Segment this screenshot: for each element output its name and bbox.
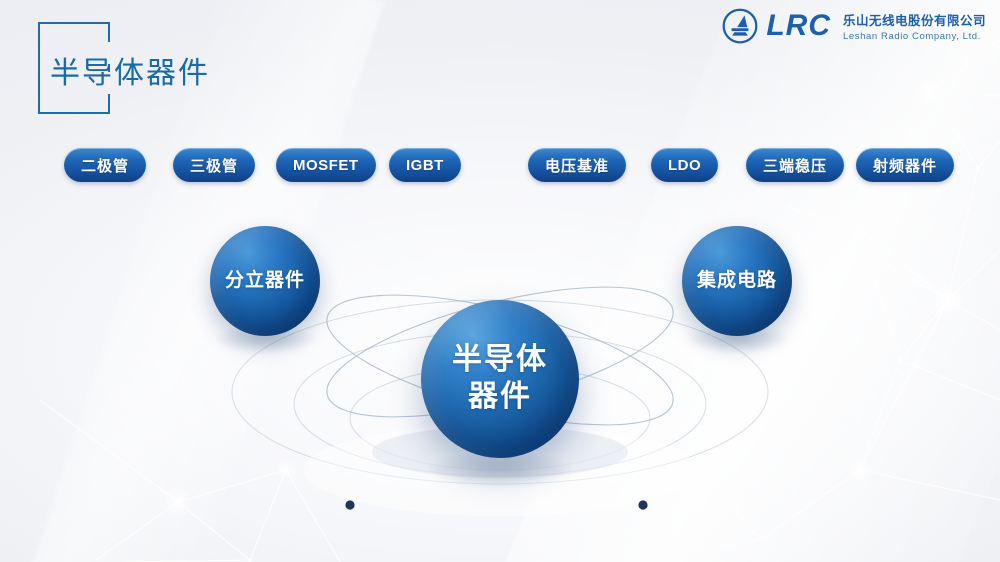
pill-transistor[interactable]: 三极管 bbox=[173, 148, 255, 182]
logo-company-name-en: Leshan Radio Company, Ltd. bbox=[843, 31, 986, 42]
pill-rf-device[interactable]: 射频器件 bbox=[856, 148, 954, 182]
pill-three-terminal-regulator[interactable]: 三端稳压 bbox=[746, 148, 844, 182]
pill-ldo[interactable]: LDO bbox=[651, 148, 718, 182]
pill-diode[interactable]: 二极管 bbox=[64, 148, 146, 182]
logo-abbreviation: LRC bbox=[766, 11, 831, 41]
lrc-anvil-logo-icon bbox=[722, 8, 758, 44]
orbit-marker-dots bbox=[345, 500, 647, 509]
slide-canvas: 半导体器件 LRC 乐山无线电股份有限公司 Leshan Radio Compa… bbox=[0, 0, 1000, 562]
company-logo: LRC 乐山无线电股份有限公司 Leshan Radio Company, Lt… bbox=[722, 8, 986, 44]
node-discrete[interactable]: 分立器件 bbox=[210, 226, 320, 336]
title-text: 半导体器件 bbox=[50, 48, 210, 92]
center-node-line-1: 半导体 bbox=[452, 342, 548, 379]
logo-company-name-cn: 乐山无线电股份有限公司 bbox=[843, 10, 986, 29]
node-integrated-circuit[interactable]: 集成电路 bbox=[682, 226, 792, 336]
node-semiconductor-devices[interactable]: 半导体 器件 bbox=[421, 300, 579, 458]
pill-igbt[interactable]: IGBT bbox=[389, 148, 461, 182]
page-title: 半导体器件 bbox=[38, 22, 278, 118]
center-node-line-2: 器件 bbox=[452, 379, 548, 416]
logo-company-names: 乐山无线电股份有限公司 Leshan Radio Company, Ltd. bbox=[843, 10, 986, 42]
pill-voltage-reference[interactable]: 电压基准 bbox=[528, 148, 626, 182]
pill-mosfet[interactable]: MOSFET bbox=[276, 148, 376, 182]
